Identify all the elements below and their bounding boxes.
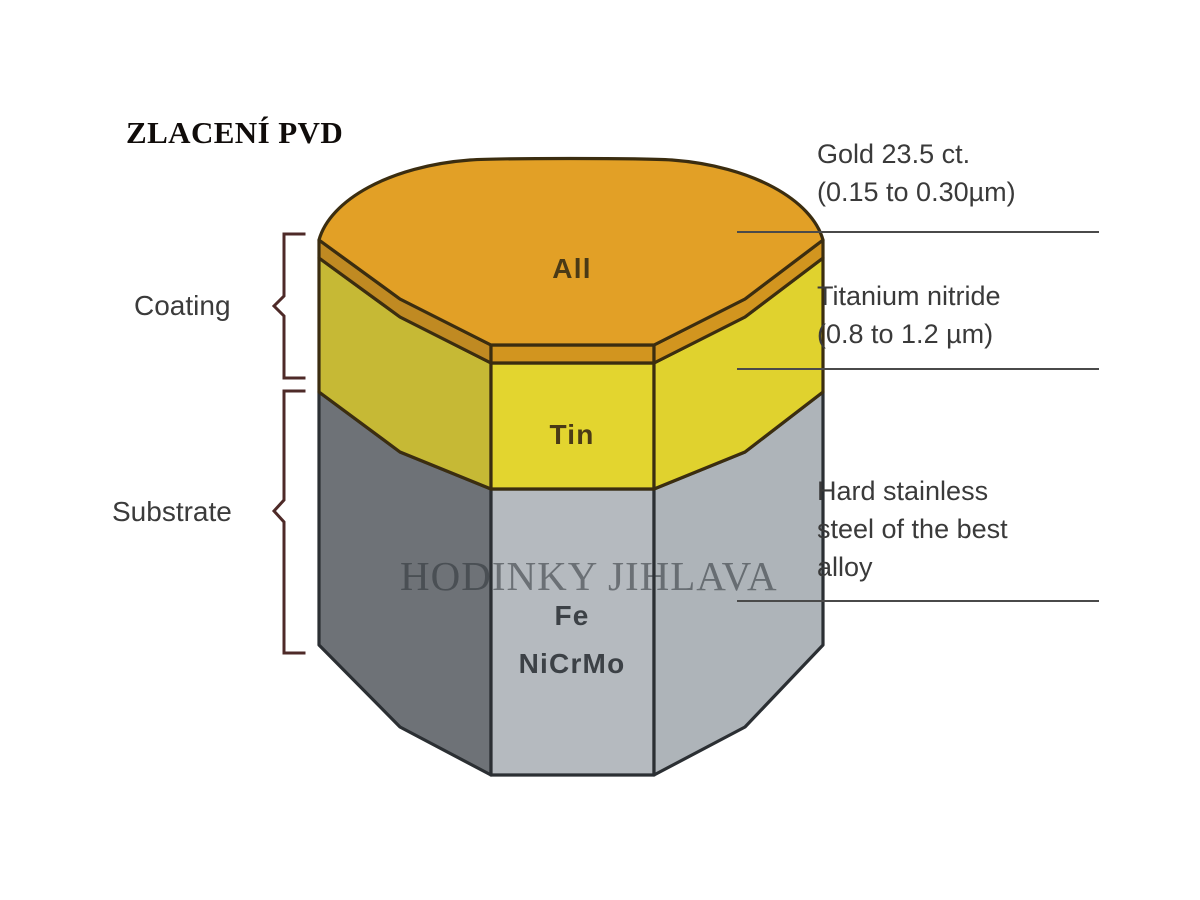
callout-gold-line1: Gold 23.5 ct. — [817, 139, 970, 169]
substrate-bracket-group: Substrate — [112, 391, 304, 653]
prism-illustration: All Tin Fe NiCrMo — [319, 159, 823, 776]
substrate-brace — [274, 391, 304, 653]
callout-tin-line1: Titanium nitride — [817, 281, 1001, 311]
tin-layer-label: Tin — [549, 419, 594, 450]
diagram-canvas: ZLACENÍ PVD All Tin — [0, 0, 1200, 900]
callout-steel-line2: steel of the best — [817, 514, 1008, 544]
substrate-front-face — [491, 489, 654, 775]
gold-layer-label: All — [552, 253, 591, 284]
substrate-layer-label-line2: NiCrMo — [519, 648, 626, 679]
substrate-bracket-label: Substrate — [112, 496, 232, 527]
callout-steel-line3: alloy — [817, 552, 873, 582]
coating-brace — [274, 234, 304, 378]
page-title: ZLACENÍ PVD — [126, 115, 343, 150]
substrate-layer-label-line1: Fe — [554, 600, 589, 631]
coating-bracket-group: Coating — [134, 234, 304, 378]
callout-gold-line2: (0.15 to 0.30µm) — [817, 177, 1016, 207]
gold-front-band — [491, 345, 654, 363]
callout-steel-line1: Hard stainless — [817, 476, 988, 506]
pvd-coating-cross-section-diagram: ZLACENÍ PVD All Tin — [0, 0, 1200, 900]
watermark-text: HODINKY JIHLAVA — [400, 553, 778, 599]
callout-tin-line2: (0.8 to 1.2 µm) — [817, 319, 993, 349]
coating-bracket-label: Coating — [134, 290, 231, 321]
